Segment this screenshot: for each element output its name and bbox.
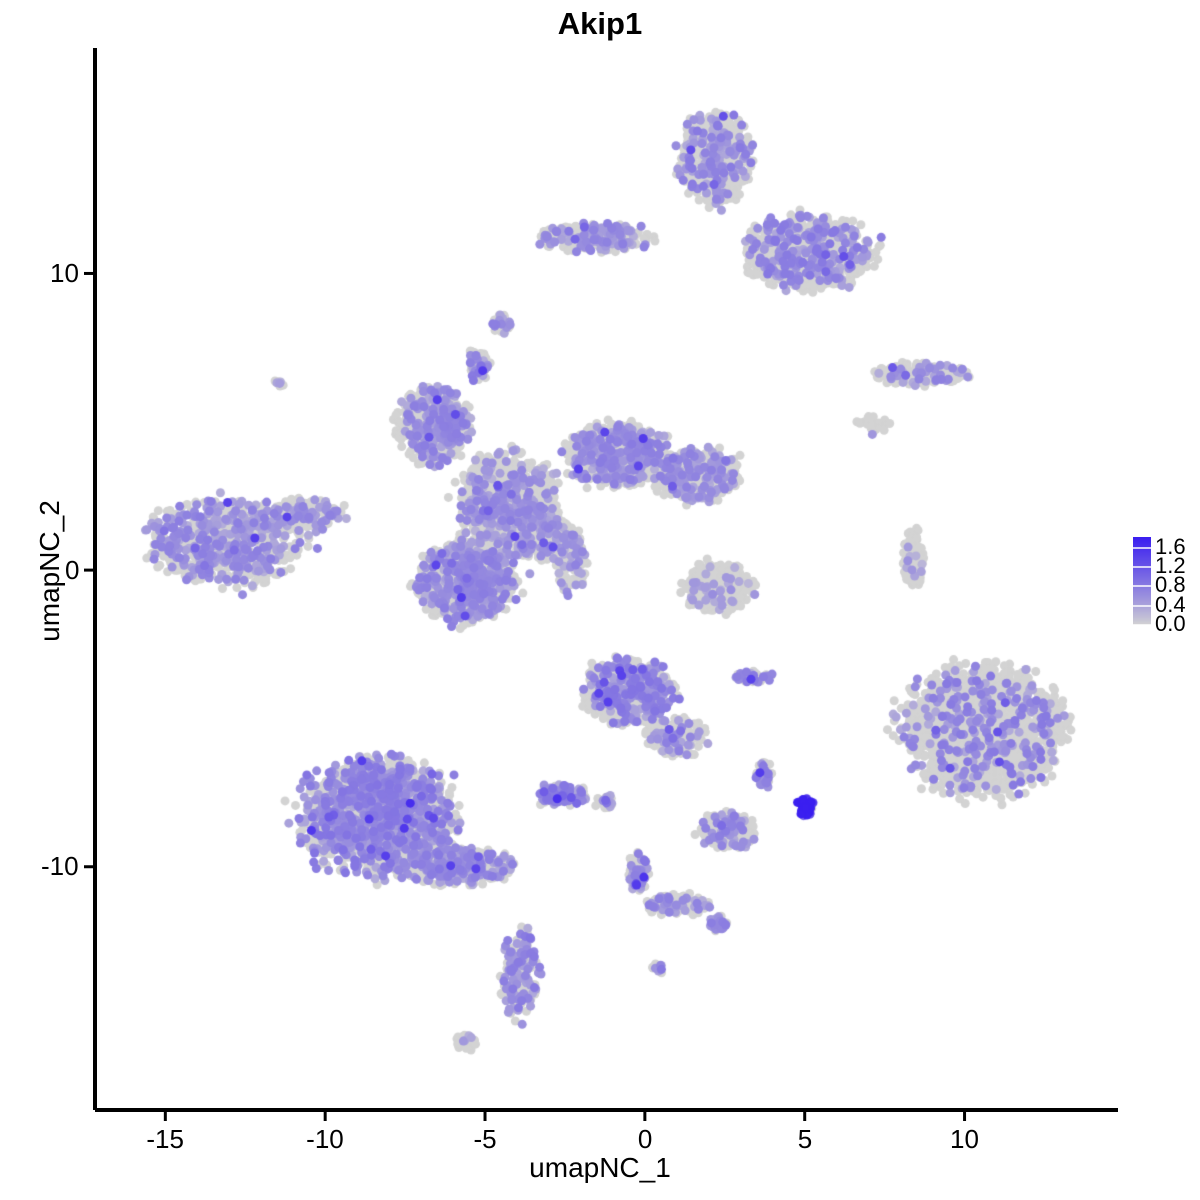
x-tick-label: 0	[638, 1124, 652, 1155]
x-tick-label: -10	[306, 1124, 344, 1155]
y-tick-label: 0	[65, 555, 79, 586]
colorbar-tick-mark	[1133, 605, 1151, 607]
colorbar-tick-mark	[1133, 624, 1151, 626]
x-tick-label: -5	[474, 1124, 497, 1155]
y-tick-label: -10	[41, 851, 79, 882]
colorbar-tick-mark	[1133, 547, 1151, 549]
colorbar-gradient	[1133, 537, 1151, 625]
x-tick-label: -15	[146, 1124, 184, 1155]
y-axis-title: umapNC_2	[34, 421, 66, 721]
x-tick-label: 5	[798, 1124, 812, 1155]
colorbar-tick-mark	[1133, 585, 1151, 587]
colorbar-tick-mark	[1133, 566, 1151, 568]
x-tick-label: 10	[950, 1124, 979, 1155]
colorbar-tick-label: 0.0	[1155, 613, 1186, 635]
color-legend[interactable]: 1.61.20.80.40.0	[1128, 530, 1200, 640]
plot-axes	[0, 0, 1200, 1200]
x-axis-title: umapNC_1	[0, 1152, 1200, 1184]
y-tick-label: 10	[50, 258, 79, 289]
feature-plot-figure: Akip1 -15-10-50510 100-10 umapNC_1 umapN…	[0, 0, 1200, 1200]
